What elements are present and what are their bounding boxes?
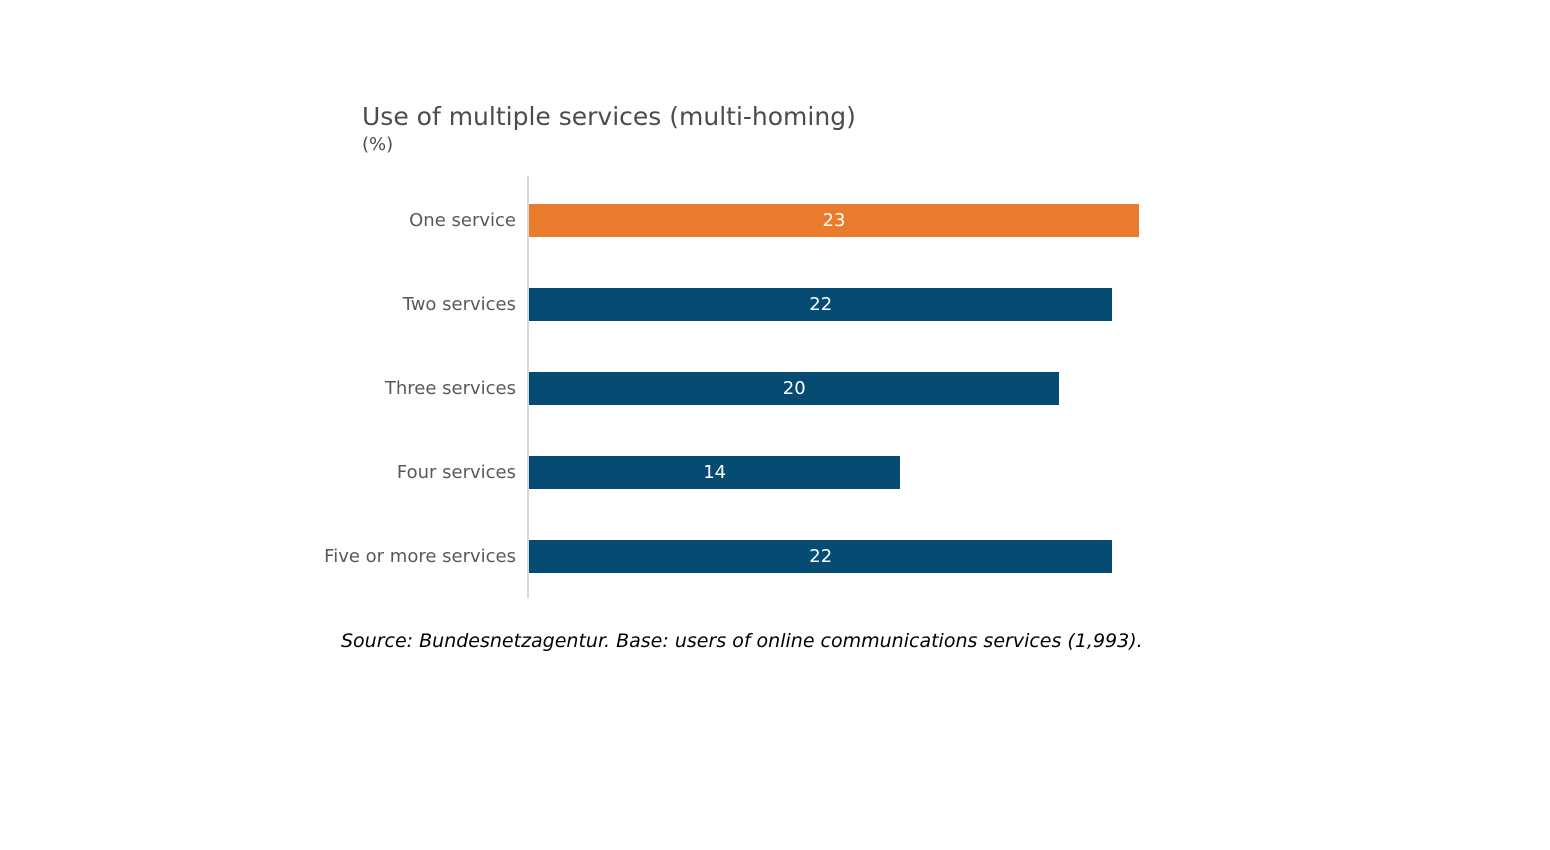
- bar-value-label: 23: [529, 204, 1139, 237]
- bar-row: Four services14: [320, 456, 1220, 489]
- category-label: Four services: [397, 456, 516, 489]
- bar[interactable]: 22: [529, 540, 1112, 573]
- page-title: Use of multiple services (multi-homing): [362, 102, 1162, 132]
- chart-header: Use of multiple services (multi-homing) …: [362, 102, 1162, 156]
- bar-row: Two services22: [320, 288, 1220, 321]
- chart-subtitle-unit: (%): [362, 134, 1162, 156]
- bar-value-label: 20: [529, 372, 1059, 405]
- bar-row: One service23: [320, 204, 1220, 237]
- bar-value-label: 14: [529, 456, 900, 489]
- chart-figure: Use of multiple services (multi-homing) …: [0, 0, 1550, 850]
- bar-value-label: 22: [529, 540, 1112, 573]
- source-note: Source: Bundesnetzagentur. Base: users o…: [341, 630, 1143, 652]
- category-label: One service: [409, 204, 516, 237]
- plot-area: One service23Two services22Three service…: [320, 176, 1220, 598]
- category-label: Five or more services: [324, 540, 516, 573]
- category-label: Two services: [403, 288, 516, 321]
- bar[interactable]: 20: [529, 372, 1059, 405]
- bar-series: One service23Two services22Three service…: [320, 176, 1220, 598]
- bar-value-label: 22: [529, 288, 1112, 321]
- bar[interactable]: 23: [529, 204, 1139, 237]
- bar[interactable]: 14: [529, 456, 900, 489]
- bar-row: Three services20: [320, 372, 1220, 405]
- category-label: Three services: [385, 372, 516, 405]
- bar[interactable]: 22: [529, 288, 1112, 321]
- bar-row: Five or more services22: [320, 540, 1220, 573]
